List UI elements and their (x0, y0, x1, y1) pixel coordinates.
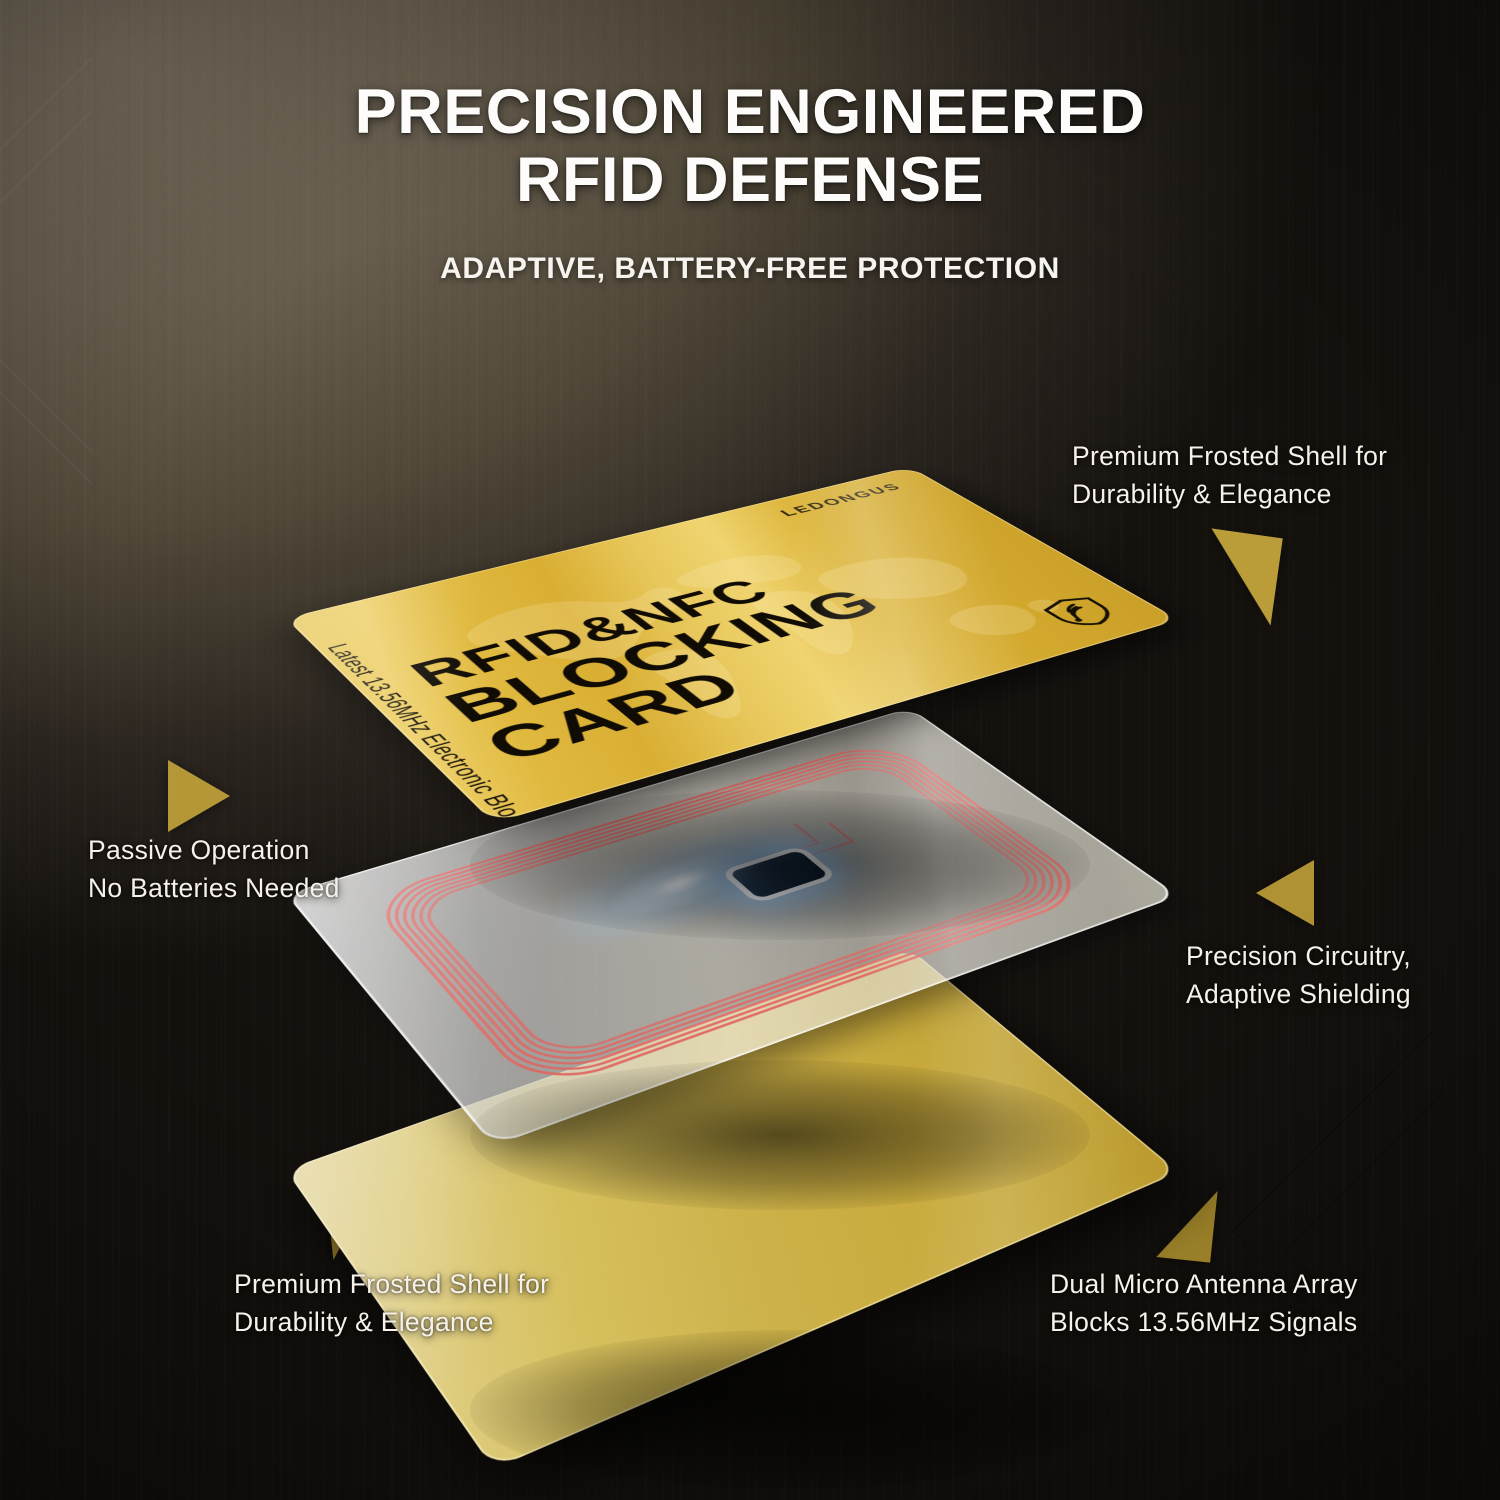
page-subtitle: ADAPTIVE, BATTERY-FREE PROTECTION (0, 252, 1500, 286)
card-brand-logo: LEDONGUS (777, 482, 906, 519)
rfid-shield-icon (1035, 593, 1126, 632)
callout-passive-operation: Passive Operation No Batteries Needed (88, 832, 340, 907)
callout-premium-frosted-shell-bottom: Premium Frosted Shell for Durability & E… (234, 1266, 549, 1341)
world-map-watermark (349, 483, 1119, 795)
callout-dual-micro-antenna: Dual Micro Antenna Array Blocks 13.56MHz… (1050, 1266, 1358, 1341)
chip-light-flare (504, 801, 853, 974)
nfc-chip (729, 850, 830, 899)
infographic-canvas: PRECISION ENGINEERED RFID DEFENSE ADAPTI… (0, 0, 1500, 1500)
card-title-line-2: BLOCKING CARD (434, 535, 1131, 769)
page-title-line-1: PRECISION ENGINEERED (355, 77, 1146, 147)
callout-premium-frosted-shell-top: Premium Frosted Shell for Durability & E… (1072, 438, 1387, 513)
page-title: PRECISION ENGINEERED RFID DEFENSE (0, 78, 1500, 214)
page-title-line-2: RFID DEFENSE (516, 145, 984, 215)
header-block: PRECISION ENGINEERED RFID DEFENSE ADAPTI… (0, 78, 1500, 286)
callout-precision-circuitry: Precision Circuitry, Adaptive Shielding (1186, 938, 1411, 1013)
card-title-line-1: RFID&NFC (399, 573, 783, 695)
card-tagline: Latest 13.56MHz Electronic Blocking Tech… (320, 641, 648, 823)
card-title: RFID&NFC BLOCKING CARD (401, 511, 1131, 769)
